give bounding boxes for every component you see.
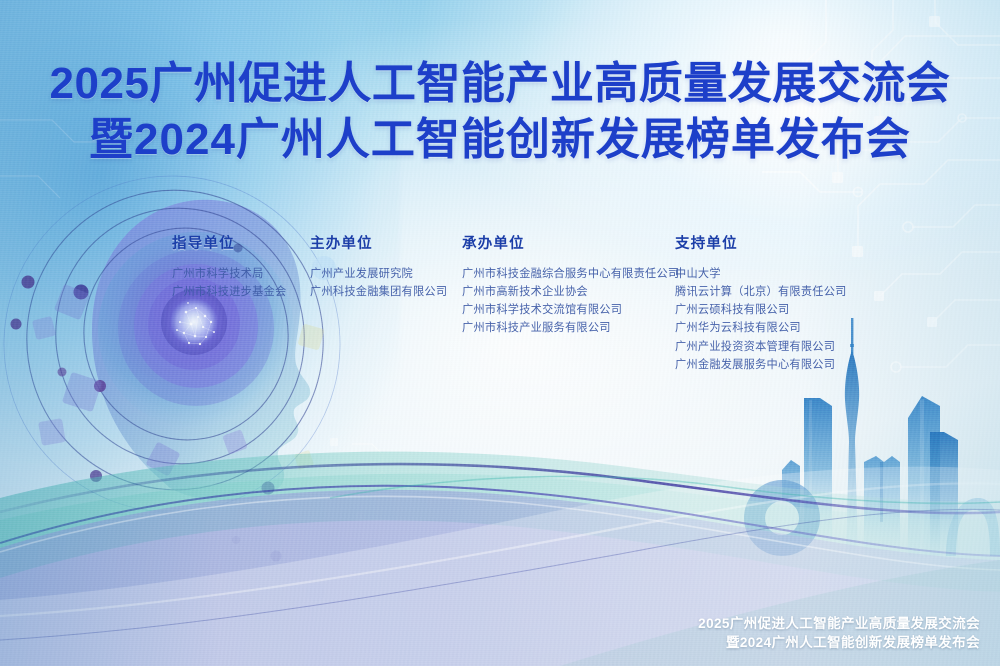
- org-item: 广州华为云科技有限公司: [675, 319, 875, 337]
- corner-watermark: 2025广州促进人工智能产业高质量发展交流会 暨2024广州人工智能创新发展榜单…: [698, 614, 980, 652]
- organization-columns: 指导单位 广州市科学技术局 广州市科技进步基金会 主办单位 广州产业发展研究院 …: [172, 232, 892, 374]
- org-item: 广州市高新技术企业协会: [462, 283, 675, 301]
- poster-backdrop: 2025广州促进人工智能产业高质量发展交流会 暨2024广州人工智能创新发展榜单…: [0, 0, 1000, 666]
- org-item: 广州市科技金融综合服务中心有限责任公司: [462, 265, 675, 283]
- org-item: 广州产业发展研究院: [310, 265, 462, 283]
- org-item: 中山大学: [675, 265, 875, 283]
- org-item: 广州科技金融集团有限公司: [310, 283, 462, 301]
- org-item: 广州市科技进步基金会: [172, 283, 310, 301]
- poster-title: 2025广州促进人工智能产业高质量发展交流会 暨2024广州人工智能创新发展榜单…: [0, 56, 1000, 169]
- org-item: 广州金融发展服务中心有限公司: [675, 356, 875, 374]
- org-item: 腾讯云计算（北京）有限责任公司: [675, 283, 875, 301]
- org-item: 广州市科技产业服务有限公司: [462, 319, 675, 337]
- org-column-organizer: 承办单位 广州市科技金融综合服务中心有限责任公司 广州市高新技术企业协会 广州市…: [462, 232, 675, 338]
- org-item: 广州市科学技术交流馆有限公司: [462, 301, 675, 319]
- org-heading: 支持单位: [675, 232, 875, 253]
- org-item: 广州市科学技术局: [172, 265, 310, 283]
- title-line-2: 暨2024广州人工智能创新发展榜单发布会: [0, 112, 1000, 168]
- org-item: 广州云硕科技有限公司: [675, 301, 875, 319]
- watermark-line-1: 2025广州促进人工智能产业高质量发展交流会: [698, 614, 980, 633]
- org-heading: 指导单位: [172, 232, 310, 253]
- org-item: 广州产业投资资本管理有限公司: [675, 338, 875, 356]
- org-heading: 主办单位: [310, 232, 462, 253]
- org-column-guidance: 指导单位 广州市科学技术局 广州市科技进步基金会: [172, 232, 310, 301]
- org-column-support: 支持单位 中山大学 腾讯云计算（北京）有限责任公司 广州云硕科技有限公司 广州华…: [675, 232, 875, 374]
- watermark-line-2: 暨2024广州人工智能创新发展榜单发布会: [698, 633, 980, 652]
- org-column-host: 主办单位 广州产业发展研究院 广州科技金融集团有限公司: [310, 232, 462, 301]
- org-heading: 承办单位: [462, 232, 675, 253]
- title-line-1: 2025广州促进人工智能产业高质量发展交流会: [0, 56, 1000, 112]
